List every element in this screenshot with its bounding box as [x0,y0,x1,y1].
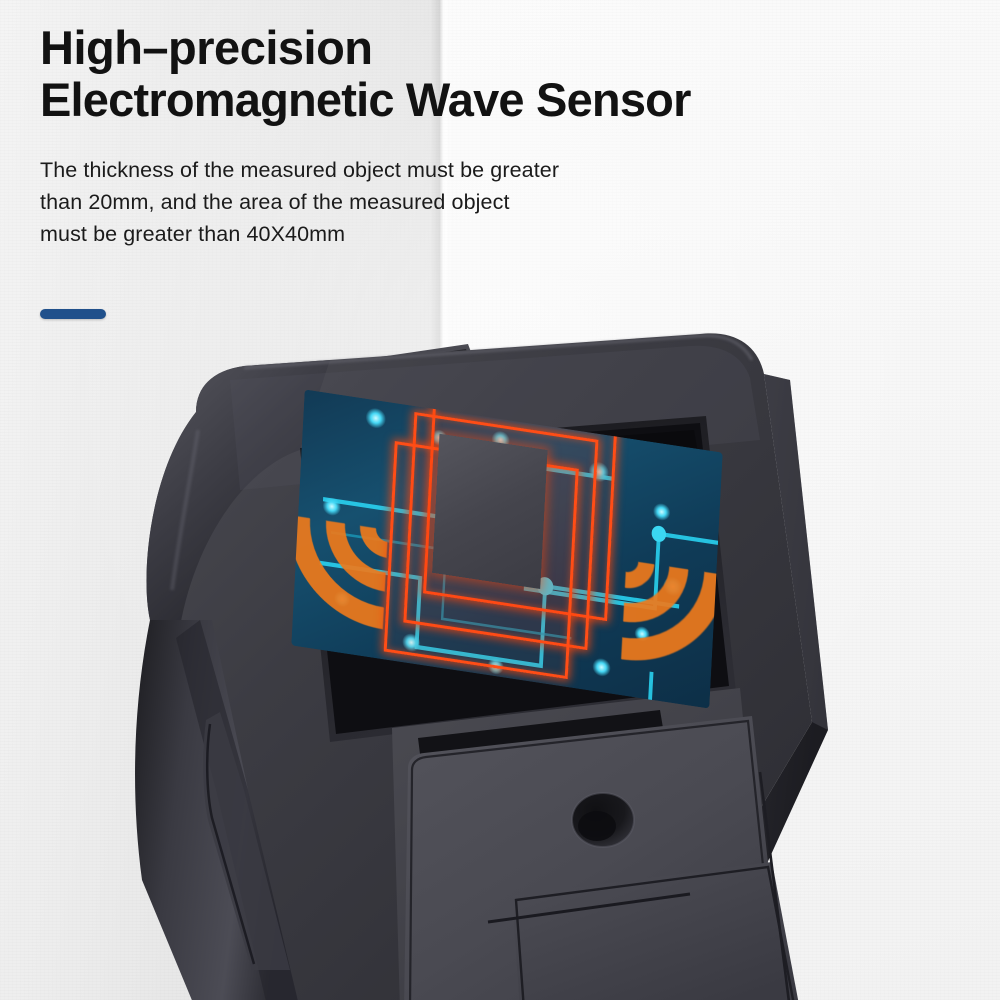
keypad-area [392,688,800,1000]
subtitle-line-1: The thickness of the measured object mus… [40,154,940,186]
accent-bar [40,309,106,319]
subtitle-line-3: must be greater than 40X40mm [40,218,940,250]
chip-icon [432,434,547,589]
product-photo [0,320,1000,1000]
page-title: High–precision Electromagnetic Wave Sens… [40,22,940,126]
page-subtitle: The thickness of the measured object mus… [40,154,940,250]
product-banner: High–precision Electromagnetic Wave Sens… [0,0,1000,1000]
title-line-2: Electromagnetic Wave Sensor [40,74,940,126]
title-line-1: High–precision [40,22,940,74]
subtitle-line-2: than 20mm, and the area of the measured … [40,186,940,218]
header-copy: High–precision Electromagnetic Wave Sens… [40,22,940,250]
